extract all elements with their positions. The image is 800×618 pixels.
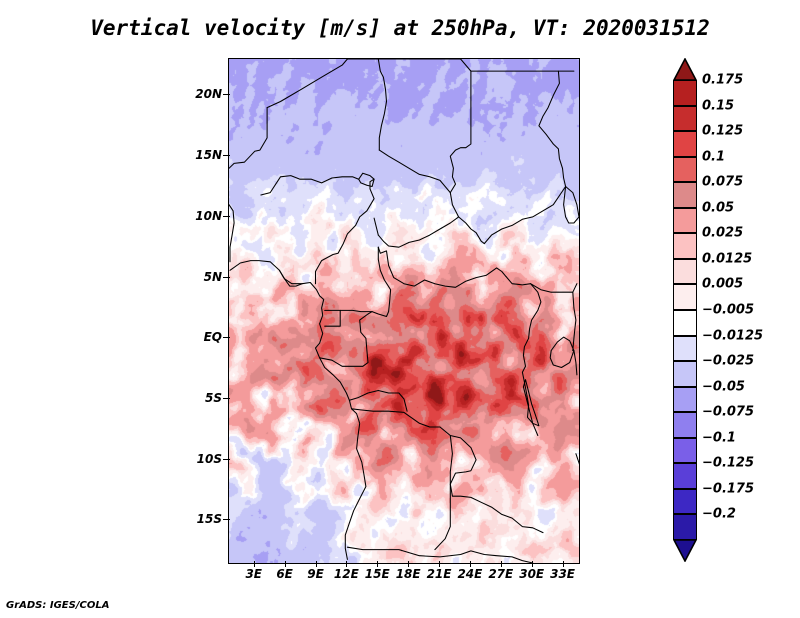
colorbar-label-12: −0.05 [702, 379, 745, 394]
colorbar-label-5: 0.05 [702, 200, 734, 215]
colorbar [673, 58, 697, 562]
x-tick-3E: 3E [245, 567, 262, 581]
map-border-line [379, 150, 450, 193]
y-tick-mark [223, 459, 230, 460]
map-border-line [435, 436, 453, 550]
chart-page: Vertical velocity [m/s] at 250hPa, VT: 2… [0, 0, 800, 618]
map-border-line [267, 59, 347, 108]
colorbar-label-11: −0.025 [702, 354, 754, 369]
colorbar-label-3: 0.1 [702, 149, 725, 164]
map-border-line [531, 284, 577, 293]
map-border-line [340, 247, 390, 316]
y-tick-mark [223, 519, 230, 520]
colorbar-label-2: 0.125 [702, 124, 743, 139]
x-tick-mark [254, 561, 255, 567]
colorbar-band-10 [673, 336, 697, 362]
map-border-line [374, 218, 378, 235]
colorbar-label-6: 0.025 [702, 226, 743, 241]
x-tick-mark [439, 561, 440, 567]
colorbar-below-min-arrow [673, 540, 697, 562]
y-tick-mark [223, 216, 230, 217]
map-border-line [349, 391, 407, 412]
y-tick-mark [223, 94, 230, 95]
colorbar-above-max-arrow [673, 58, 697, 80]
y-tick-mark [223, 398, 230, 399]
colorbar-band-17 [673, 514, 697, 540]
colorbar-label-9: −0.005 [702, 303, 754, 318]
x-tick-mark [408, 561, 409, 567]
x-tick-mark [377, 561, 378, 567]
x-tick-mark [285, 561, 286, 567]
colorbar-band-7 [673, 259, 697, 285]
page-title: Vertical velocity [m/s] at 250hPa, VT: 2… [0, 16, 800, 40]
x-tick-6E: 6E [276, 567, 293, 581]
map-border-line [573, 292, 576, 350]
colorbar-label-0: 0.175 [702, 73, 743, 88]
map-border-line [347, 547, 532, 563]
colorbar-label-1: 0.15 [702, 98, 734, 113]
map-plot-area [228, 58, 580, 564]
map-border-line [352, 409, 544, 533]
colorbar-label-16: −0.175 [702, 481, 754, 496]
x-tick-21E: 21E [427, 567, 452, 581]
map-border-line [359, 173, 374, 186]
map-borders-overlay [229, 59, 579, 563]
x-tick-mark [501, 561, 502, 567]
colorbar-band-4 [673, 182, 697, 208]
colorbar-band-3 [673, 157, 697, 183]
y-tick-mark [223, 155, 230, 156]
y-tick-mark [223, 337, 230, 338]
map-border-line [550, 337, 574, 367]
map-border-line [378, 217, 458, 247]
colorbar-band-11 [673, 361, 697, 387]
x-tick-33E: 33E [550, 567, 575, 581]
colorbar-band-15 [673, 463, 697, 489]
colorbar-band-0 [673, 80, 697, 106]
x-tick-27E: 27E [488, 567, 513, 581]
colorbar-band-1 [673, 106, 697, 132]
y-tick-5N: 5N [204, 270, 222, 284]
colorbar-band-9 [673, 310, 697, 336]
map-border-line [316, 179, 375, 284]
x-tick-9E: 9E [307, 567, 324, 581]
y-tick-15N: 15N [195, 148, 222, 162]
y-tick-20N: 20N [195, 87, 222, 101]
y-tick-mark [223, 277, 230, 278]
colorbar-label-10: −0.0125 [702, 328, 763, 343]
x-tick-mark [532, 561, 533, 567]
y-tick-10S: 10S [197, 452, 222, 466]
x-tick-12E: 12E [334, 567, 359, 581]
colorbar-label-14: −0.1 [702, 430, 736, 445]
x-tick-mark [316, 561, 317, 567]
colorbar-band-12 [673, 387, 697, 413]
map-border-line [576, 454, 579, 478]
colorbar-band-16 [673, 489, 697, 515]
map-border-line [229, 205, 234, 262]
y-tick-15S: 15S [197, 512, 222, 526]
colorbar-label-15: −0.125 [702, 456, 754, 471]
colorbar-band-2 [673, 131, 697, 157]
y-axis-tick-labels: 20N15N10N5NEQ5S10S15S [170, 58, 222, 562]
map-border-line [484, 187, 565, 244]
x-tick-mark [563, 561, 564, 567]
colorbar-band-6 [673, 233, 697, 259]
x-tick-mark [346, 561, 347, 567]
colorbar-label-17: −0.2 [702, 507, 736, 522]
attribution-footer: GrADS: IGES/COLA [6, 600, 109, 611]
map-border-line [573, 351, 577, 375]
map-border-line [320, 312, 373, 367]
colorbar-band-8 [673, 284, 697, 310]
colorbar-band-13 [673, 412, 697, 438]
x-tick-30E: 30E [519, 567, 544, 581]
y-tick-10N: 10N [195, 209, 222, 223]
colorbar-label-13: −0.075 [702, 405, 754, 420]
y-tick-EQ: EQ [204, 330, 222, 344]
colorbar-band-5 [673, 208, 697, 234]
map-border-line [325, 310, 341, 326]
map-border-line [229, 108, 267, 169]
map-border-line [378, 59, 484, 244]
map-border-line [539, 71, 566, 186]
map-border-line [506, 276, 541, 435]
x-axis-tick-labels: 3E6E9E12E15E18E21E24E27E30E33E [228, 567, 578, 587]
map-border-line [261, 176, 359, 195]
map-border-line [230, 261, 366, 560]
colorbar-label-4: 0.075 [702, 175, 743, 190]
map-border-line [564, 187, 579, 224]
map-border-line [378, 247, 506, 287]
map-border-line [347, 59, 386, 150]
x-tick-18E: 18E [396, 567, 421, 581]
y-tick-5S: 5S [205, 391, 222, 405]
x-tick-mark [470, 561, 471, 567]
x-tick-24E: 24E [457, 567, 482, 581]
colorbar-band-14 [673, 438, 697, 464]
colorbar-label-7: 0.0125 [702, 251, 752, 266]
colorbar-label-8: 0.005 [702, 277, 743, 292]
x-tick-15E: 15E [365, 567, 390, 581]
